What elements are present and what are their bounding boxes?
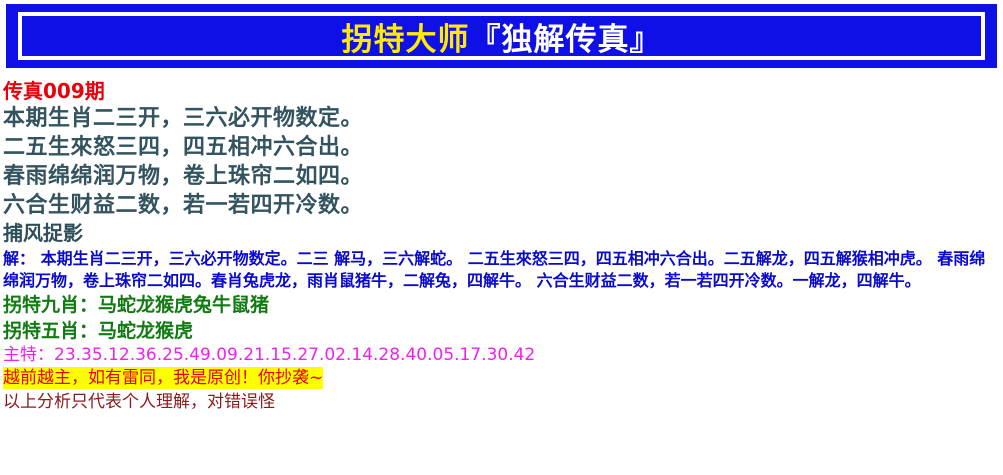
banner-title: 拐特大师『独解传真』 xyxy=(6,4,997,68)
verse-line-2: 二五生來怒三四，四五相冲六合出。 xyxy=(0,133,1003,162)
header-banner: 拐特大师『独解传真』 xyxy=(6,4,997,68)
banner-title-primary: 拐特大师 xyxy=(342,14,470,59)
header-banner-wrapper: 拐特大师『独解传真』 xyxy=(0,4,1003,72)
banner-title-secondary: 『独解传真』 xyxy=(470,14,662,59)
verse-line-1: 本期生肖二三开，三六必开物数定。 xyxy=(0,104,1003,133)
five-zodiac-row: 拐特五肖：马蛇龙猴虎 xyxy=(0,318,1003,344)
five-zodiac-label: 拐特五肖： xyxy=(3,320,98,342)
issue-label: 传真009期 xyxy=(0,78,1003,104)
main-numbers-label: 主特： xyxy=(3,345,54,365)
main-content: 传真009期 本期生肖二三开，三六必开物数定。 二五生來怒三四，四五相冲六合出。… xyxy=(0,78,1003,415)
nine-zodiac-label: 拐特九肖： xyxy=(3,294,98,316)
highlight-notice-row: 越前越主，如有雷同，我是原创！你抄袭~ xyxy=(0,367,1003,389)
page-root: 拐特大师『独解传真』 传真009期 本期生肖二三开，三六必开物数定。 二五生來怒… xyxy=(0,0,1003,475)
verse-line-4: 六合生财益二数，若一若四开冷数。 xyxy=(0,191,1003,220)
nine-zodiac-row: 拐特九肖：马蛇龙猴虎兔牛鼠猪 xyxy=(0,292,1003,318)
main-numbers-row: 主特：23.35.12.36.25.49.09.21.15.27.02.14.2… xyxy=(0,344,1003,367)
main-numbers-value: 23.35.12.36.25.49.09.21.15.27.02.14.28.4… xyxy=(54,345,535,365)
catch-phrase-heading: 捕风捉影 xyxy=(0,220,1003,247)
highlight-notice: 越前越主，如有雷同，我是原创！你抄袭~ xyxy=(3,367,323,389)
verse-line-3: 春雨绵绵润万物，卷上珠帘二如四。 xyxy=(0,162,1003,191)
footnote-disclaimer: 以上分析只代表个人理解，对错误怪 xyxy=(0,389,1003,415)
nine-zodiac-value: 马蛇龙猴虎兔牛鼠猪 xyxy=(98,294,269,316)
explanation-paragraph: 解： 本期生肖二三开，三六必开物数定。二三 解马，三六解蛇。 二五生來怒三四，四… xyxy=(0,247,1003,292)
five-zodiac-value: 马蛇龙猴虎 xyxy=(98,320,193,342)
